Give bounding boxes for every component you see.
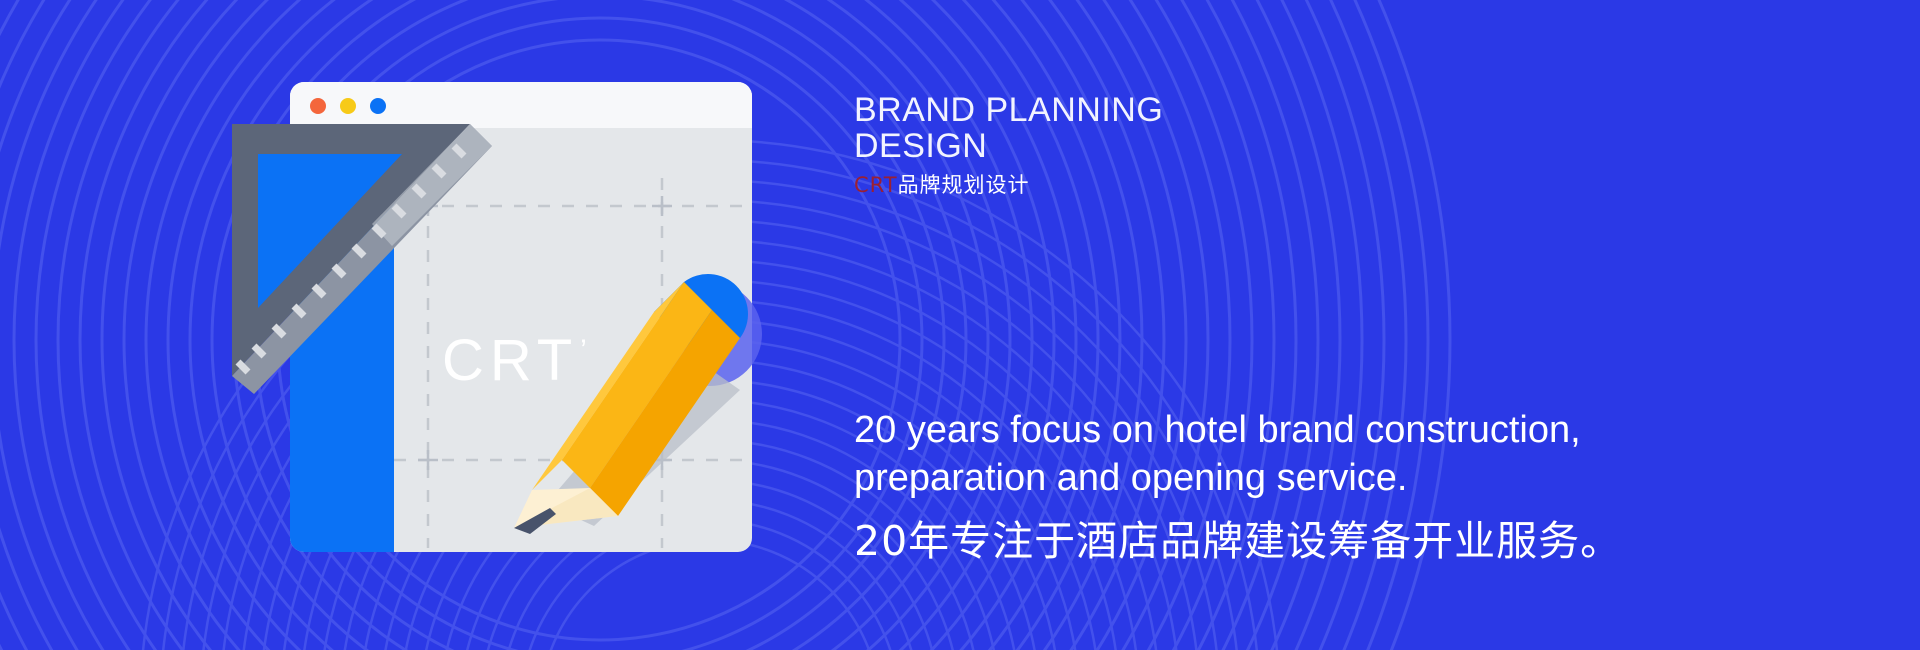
window-maximize-dot-icon — [370, 98, 386, 114]
tagline-block: 20 years focus on hotel brand constructi… — [854, 406, 1714, 566]
tagline-english: 20 years focus on hotel brand constructi… — [854, 406, 1714, 502]
tagline-english-line-2: preparation and opening service. — [854, 454, 1714, 502]
window-close-dot-icon — [310, 98, 326, 114]
headline-brand-crt: CRT — [854, 173, 898, 197]
pencil — [484, 222, 804, 542]
headline-chinese: CRT品牌规划设计 — [854, 172, 1394, 198]
brand-banner: CRT’ — [0, 0, 1920, 650]
tagline-chinese: 20年专注于酒店品牌建设筹备开业服务。 — [854, 516, 1714, 566]
window-minimize-dot-icon — [340, 98, 356, 114]
brand-design-illustration: CRT’ — [232, 82, 832, 552]
headline-block: BRAND PLANNING DESIGN CRT品牌规划设计 — [854, 92, 1394, 198]
set-square-ruler — [232, 124, 492, 394]
headline-english-line-2: DESIGN — [854, 128, 1394, 164]
headline-english: BRAND PLANNING DESIGN — [854, 92, 1394, 164]
tagline-english-line-1: 20 years focus on hotel brand constructi… — [854, 406, 1714, 454]
headline-english-line-1: BRAND PLANNING — [854, 92, 1394, 128]
window-titlebar — [290, 82, 752, 128]
headline-chinese-text: 品牌规划设计 — [898, 173, 1030, 197]
